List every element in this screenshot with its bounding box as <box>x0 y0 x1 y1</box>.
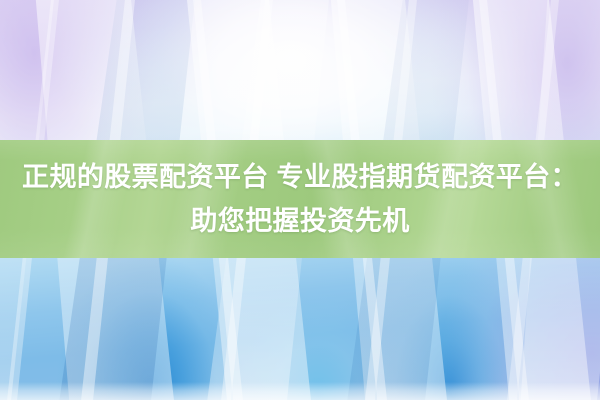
page-title: 正规的股票配资平台 专业股指期货配资平台：助您把握投资先机 <box>20 155 580 243</box>
promo-banner: 正规的股票配资平台 专业股指期货配资平台：助您把握投资先机 <box>0 0 600 400</box>
headline-band: 正规的股票配资平台 专业股指期货配资平台：助您把握投资先机 <box>0 140 600 258</box>
